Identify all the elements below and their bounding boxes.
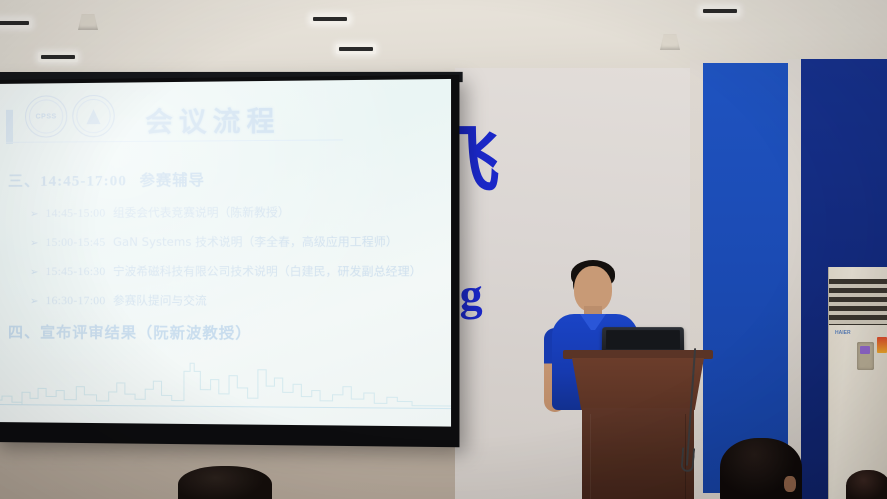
list-item: ➢14:45-15:00 组委会代表竞赛说明（陈新教授） [30, 203, 451, 221]
slide-bullet-list: ➢14:45-15:00 组委会代表竞赛说明（陈新教授） ➢15:00-15:4… [30, 203, 451, 309]
ceiling-light-icon [336, 44, 376, 54]
nuaa-logo-icon [72, 95, 114, 138]
city-skyline-icon [0, 358, 451, 408]
ceiling-light-icon [0, 18, 32, 28]
list-item: ➢15:00-15:45 GaN Systems 技术说明（李全春，高级应用工程… [30, 233, 451, 250]
bullet-arrow-icon: ➢ [30, 296, 38, 307]
bullet-arrow-icon: ➢ [30, 238, 38, 249]
cpss-logo-text: CPSS [36, 113, 57, 120]
projection-screen: CPSS 会议流程 三、14:45-17:00 参赛辅导 ➢14:45-15:0… [0, 79, 451, 427]
lectern-top [563, 350, 713, 359]
bullet-time: 14:45-15:00 [45, 208, 105, 220]
bullet-arrow-icon: ➢ [30, 267, 38, 278]
bullet-text: 组委会代表竞赛说明（陈新教授） [113, 205, 290, 220]
conference-room-photo: 飞 ng CPSS 会议流程 三、14:45-17:00 参赛辅导 ➢14:45 [0, 0, 887, 499]
slide-section-heading: 三、14:45-17:00 参赛辅导 [8, 167, 451, 191]
audience-head [846, 470, 887, 499]
section-label: 参赛辅导 [140, 171, 205, 190]
slide-final-heading: 四、宣布评审结果（阮新波教授） [8, 321, 451, 344]
bullet-text: 参赛队提问与交流 [113, 293, 207, 307]
ceiling-light-icon [310, 14, 350, 24]
bullet-time: 16:30-17:00 [45, 295, 105, 307]
air-vent-icon [660, 34, 680, 50]
blue-wall-panel-1 [703, 63, 788, 493]
audience-head [720, 438, 802, 499]
slide-body: 三、14:45-17:00 参赛辅导 ➢14:45-15:00 组委会代表竞赛说… [0, 167, 451, 344]
slide-header-rule [6, 139, 343, 142]
final-number: 四、 [8, 323, 40, 341]
final-label: 宣布评审结果（阮新波教授） [40, 323, 252, 342]
cpss-logo-icon: CPSS [25, 95, 67, 138]
ceiling-light-icon [38, 52, 78, 62]
section-time: 14:45-17:00 [40, 173, 127, 190]
ac-energy-label [877, 337, 887, 353]
bullet-time: 15:45-16:30 [45, 266, 105, 278]
ac-brand-label: HAIER [835, 330, 851, 336]
nuaa-tree-icon [86, 108, 100, 123]
ceiling-light-icon [700, 6, 740, 16]
bullet-time: 15:00-15:45 [45, 237, 105, 249]
air-vent-icon [78, 14, 98, 30]
list-item: ➢16:30-17:00 参赛队提问与交流 [30, 292, 451, 309]
audience-head [178, 466, 272, 499]
ac-control-panel[interactable] [857, 342, 874, 370]
floor-standing-ac: HAIER [828, 267, 887, 499]
list-item: ➢15:45-16:30 宁波希磁科技有限公司技术说明（白建民，研发副总经理） [30, 263, 451, 280]
bullet-arrow-icon: ➢ [30, 209, 38, 220]
lectern-body [582, 408, 694, 499]
section-number: 三、 [8, 172, 40, 190]
slide-accent-bar [6, 110, 13, 144]
bullet-text: 宁波希磁科技有限公司技术说明（白建民，研发副总经理） [113, 264, 422, 278]
bullet-text: GaN Systems 技术说明（李全春，高级应用工程师） [113, 234, 398, 249]
wall-panel-gap [788, 59, 801, 499]
lectern-face [572, 358, 704, 410]
slide-title: 会议流程 [145, 99, 280, 140]
ac-grill-icon [829, 279, 887, 325]
projection-screen-frame: CPSS 会议流程 三、14:45-17:00 参赛辅导 ➢14:45-15:0… [0, 75, 459, 448]
